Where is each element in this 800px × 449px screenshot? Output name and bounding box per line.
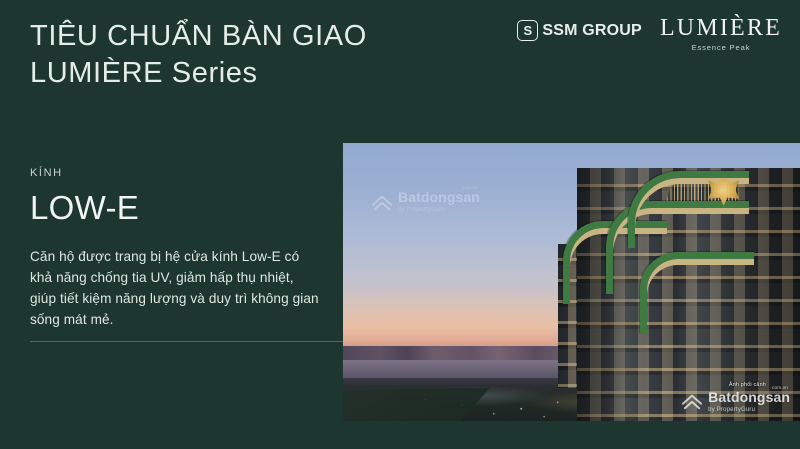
lumiere-logo: LUMIÈRE Essence Peak bbox=[660, 14, 782, 52]
tower-balcony-frame-1 bbox=[628, 171, 749, 249]
feature-headline: LOW-E bbox=[30, 191, 322, 224]
building-rendering-photo: com.vn Batdongsan by PropertyGuru Ảnh ph… bbox=[343, 143, 800, 421]
feature-copy-block: KÍNH LOW-E Căn hộ được trang bị hệ cửa k… bbox=[30, 168, 322, 330]
lumiere-wordmark: LUMIÈRE bbox=[660, 16, 782, 41]
slide-title-line-1: TIÊU CHUẨN BÀN GIAO bbox=[30, 18, 510, 55]
slide-title: TIÊU CHUẨN BÀN GIAO LUMIÈRE Series bbox=[30, 18, 510, 92]
slide-root: SSM GROUP LUMIÈRE Essence Peak TIÊU CHUẨ… bbox=[0, 0, 800, 449]
brand-logo-bar: SSM GROUP LUMIÈRE Essence Peak bbox=[517, 14, 782, 56]
slide-title-line-2: LUMIÈRE Series bbox=[30, 55, 510, 92]
ssm-monogram-icon bbox=[517, 20, 538, 41]
ssm-group-wordmark: SSM GROUP bbox=[542, 23, 642, 39]
photo-caption: Ảnh phối cảnh bbox=[729, 382, 766, 388]
lumiere-tagline: Essence Peak bbox=[692, 43, 751, 52]
feature-kicker: KÍNH bbox=[30, 168, 322, 179]
feature-body-text: Căn hộ được trang bị hệ cửa kính Low-E c… bbox=[30, 246, 322, 330]
ssm-group-logo: SSM GROUP bbox=[517, 14, 642, 41]
